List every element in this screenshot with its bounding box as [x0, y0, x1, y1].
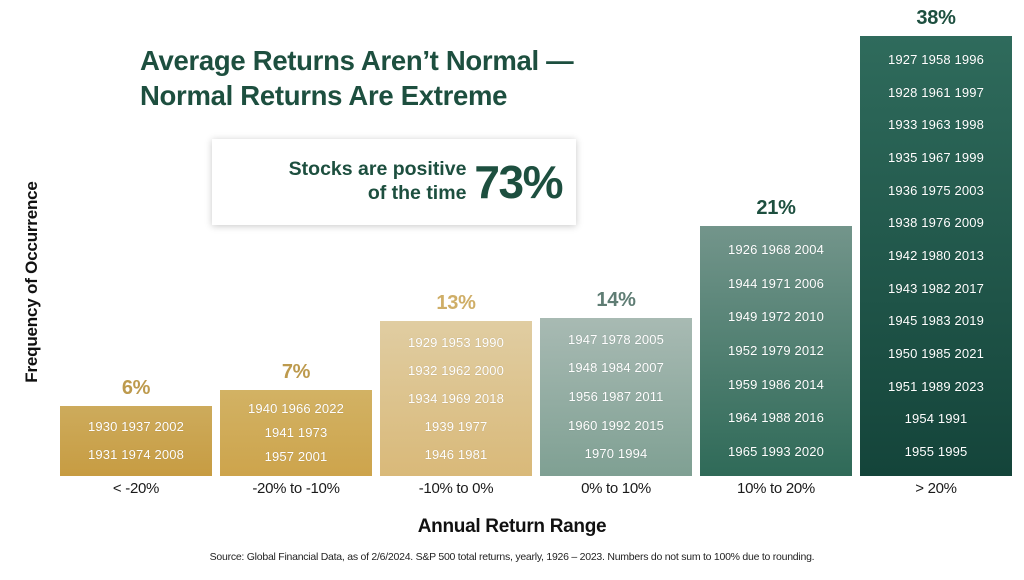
bar-year-row: 1952 1979 2012 [728, 343, 824, 358]
bar-year-row: 1926 1968 2004 [728, 242, 824, 257]
bar-year-row: 1945 1983 2019 [888, 313, 984, 328]
bar-year-row: 1932 1962 2000 [408, 363, 504, 378]
x-axis-tick-label: 10% to 20% [700, 480, 852, 497]
bar-group: 1927 1958 19961928 1961 19971933 1963 19… [860, 0, 1012, 476]
bar-value-label: 14% [540, 289, 692, 312]
bar-group: 1926 1968 20041944 1971 20061949 1972 20… [700, 0, 852, 476]
bar-year-row: 1964 1988 2016 [728, 410, 824, 425]
bar-year-row: 1942 1980 2013 [888, 248, 984, 263]
bar-year-row: 1947 1978 2005 [568, 332, 664, 347]
bar-year-row: 1965 1993 2020 [728, 444, 824, 459]
x-axis-tick-label: 0% to 10% [540, 480, 692, 497]
source-note: Source: Global Financial Data, as of 2/6… [0, 551, 1024, 563]
bar-year-row: 1944 1971 2006 [728, 276, 824, 291]
x-axis-title: Annual Return Range [0, 516, 1024, 538]
bar-year-row: 1948 1984 2007 [568, 360, 664, 375]
bar-year-row: 1970 1994 [585, 446, 648, 461]
bar-year-row: 1946 1981 [425, 447, 488, 462]
bar-year-row: 1957 2001 [265, 449, 328, 464]
bar-value-label: 21% [700, 197, 852, 220]
bar[interactable]: 1926 1968 20041944 1971 20061949 1972 20… [700, 226, 852, 476]
bar-year-row: 1960 1992 2015 [568, 418, 664, 433]
bar-year-row: 1936 1975 2003 [888, 183, 984, 198]
bar[interactable]: 1929 1953 19901932 1962 20001934 1969 20… [380, 321, 532, 476]
bar-year-row: 1928 1961 1997 [888, 85, 984, 100]
bar-value-label: 7% [220, 361, 372, 384]
bar-value-label: 38% [860, 7, 1012, 30]
bar-year-row: 1954 1991 [905, 411, 968, 426]
x-axis-tick-label: > 20% [860, 480, 1012, 497]
bar-year-row: 1935 1967 1999 [888, 150, 984, 165]
chart-container: Frequency of Occurrence Average Returns … [0, 0, 1024, 580]
bar-year-row: 1933 1963 1998 [888, 117, 984, 132]
x-axis-tick-label: -10% to 0% [380, 480, 532, 497]
bar-year-row: 1943 1982 2017 [888, 281, 984, 296]
bar-year-row: 1949 1972 2010 [728, 309, 824, 324]
bar-value-label: 13% [380, 292, 532, 315]
bar-year-row: 1929 1953 1990 [408, 335, 504, 350]
bar-year-row: 1955 1995 [905, 444, 968, 459]
bar-year-row: 1927 1958 1996 [888, 52, 984, 67]
bar-year-row: 1940 1966 2022 [248, 401, 344, 416]
bar-group: 1929 1953 19901932 1962 20001934 1969 20… [380, 0, 532, 476]
bar[interactable]: 1947 1978 20051948 1984 20071956 1987 20… [540, 318, 692, 476]
plot-area: 1930 1937 20021931 1974 20086%1940 1966 … [44, 0, 1004, 476]
bar-year-row: 1939 1977 [425, 419, 488, 434]
bar-year-row: 1950 1985 2021 [888, 346, 984, 361]
x-axis-tick-label: < -20% [60, 480, 212, 497]
bar-year-row: 1931 1974 2008 [88, 447, 184, 462]
bar[interactable]: 1927 1958 19961928 1961 19971933 1963 19… [860, 36, 1012, 476]
bar-year-row: 1951 1989 2023 [888, 379, 984, 394]
bar-year-row: 1959 1986 2014 [728, 377, 824, 392]
bar-value-label: 6% [60, 377, 212, 400]
bar-year-row: 1956 1987 2011 [568, 389, 663, 404]
bar-group: 1930 1937 20021931 1974 20086% [60, 0, 212, 476]
bar[interactable]: 1930 1937 20021931 1974 2008 [60, 406, 212, 476]
bar[interactable]: 1940 1966 20221941 19731957 2001 [220, 390, 372, 476]
bar-group: 1940 1966 20221941 19731957 20017% [220, 0, 372, 476]
bar-year-row: 1938 1976 2009 [888, 215, 984, 230]
bar-year-row: 1941 1973 [265, 425, 328, 440]
x-axis-tick-label: -20% to -10% [220, 480, 372, 497]
bar-year-row: 1934 1969 2018 [408, 391, 504, 406]
x-axis-tick-labels: < -20%-20% to -10%-10% to 0%0% to 10%10%… [44, 480, 1004, 504]
y-axis-title: Frequency of Occurrence [22, 132, 42, 432]
bar-year-row: 1930 1937 2002 [88, 419, 184, 434]
bar-group: 1947 1978 20051948 1984 20071956 1987 20… [540, 0, 692, 476]
